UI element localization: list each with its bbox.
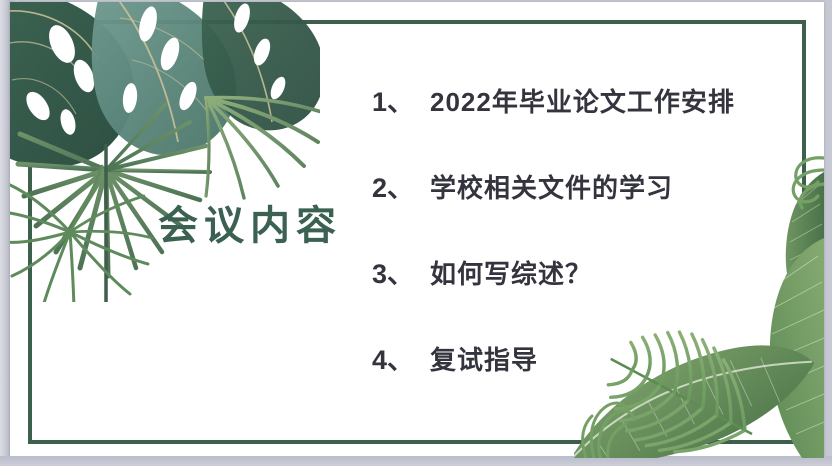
page-title: 会议内容 (158, 206, 342, 246)
slide-viewer: 会议内容 1、 2022年毕业论文工作安排 2、 学校相关文件的学习 3、 如何… (0, 0, 832, 466)
list-item: 4、 复试指导 (372, 338, 802, 424)
agenda-list: 1、 2022年毕业论文工作安排 2、 学校相关文件的学习 3、 如何写综述？ … (372, 80, 802, 424)
agenda-item-number: 3、 (372, 252, 430, 291)
slide-canvas: 会议内容 1、 2022年毕业论文工作安排 2、 学校相关文件的学习 3、 如何… (10, 2, 824, 458)
agenda-item-label: 复试指导 (430, 340, 538, 377)
agenda-item-number: 2、 (372, 166, 430, 205)
agenda-item-label: 如何写综述？ (430, 254, 592, 291)
list-item: 2、 学校相关文件的学习 (372, 166, 802, 252)
agenda-item-label: 学校相关文件的学习 (430, 168, 673, 205)
agenda-item-number: 1、 (372, 80, 430, 119)
slide-content: 会议内容 1、 2022年毕业论文工作安排 2、 学校相关文件的学习 3、 如何… (10, 2, 824, 458)
agenda-item-label: 2022年毕业论文工作安排 (430, 82, 735, 119)
list-item: 1、 2022年毕业论文工作安排 (372, 80, 802, 166)
list-item: 3、 如何写综述？ (372, 252, 802, 338)
agenda-item-number: 4、 (372, 338, 430, 377)
